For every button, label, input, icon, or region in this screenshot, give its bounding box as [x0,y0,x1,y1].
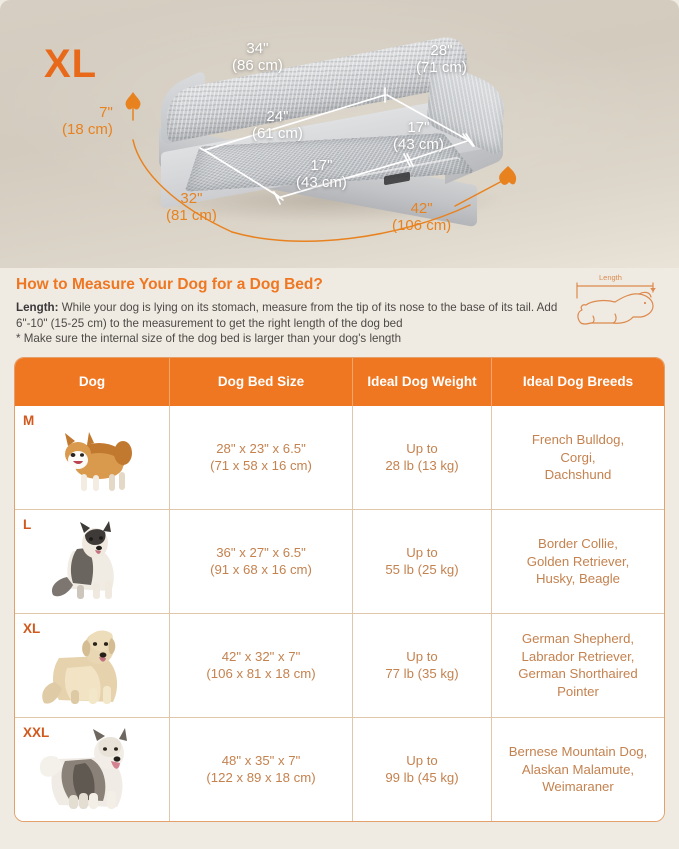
dog-cell-l: L [15,509,170,613]
border-collie-photo [37,521,147,601]
height-arrow-icon [126,92,141,110]
labrador-photo [33,624,151,706]
size-label-l: L [23,516,31,534]
weight-cell: Up to 99 lb (45 kg) [353,717,492,821]
dog-cell-xl: XL [15,613,170,717]
table-row: L [15,509,664,613]
bed-size-cell: 28" x 23" x 6.5" (71 x 58 x 16 cm) [170,406,353,510]
header-bed-size: Dog Bed Size [170,358,353,406]
header-weight: Ideal Dog Weight [353,358,492,406]
measure-description: Length: While your dog is lying on its s… [16,300,568,347]
length-arrow-tip-icon [650,288,656,292]
size-chart-table: Dog Dog Bed Size Ideal Dog Weight Ideal … [14,357,665,822]
breeds-cell: German Shepherd, Labrador Retriever, Ger… [492,613,665,717]
bed-size-cell: 48" x 35" x 7" (122 x 89 x 18 cm) [170,717,353,821]
hero-product-section: XL [0,0,679,268]
breeds-cell: French Bulldog, Corgi, Dachshund [492,406,665,510]
dim-7-inch-height: 7" (18 cm) [62,104,113,138]
table-header-row: Dog Dog Bed Size Ideal Dog Weight Ideal … [15,358,664,406]
dim-24-inch: 24" (61 cm) [252,108,303,142]
dog-cell-xxl: XXL [15,717,170,821]
weight-cell: Up to 28 lb (13 kg) [353,406,492,510]
dog-cell-m: M [15,406,170,510]
breeds-cell: Border Collie, Golden Retriever, Husky, … [492,509,665,613]
how-to-measure-section: How to Measure Your Dog for a Dog Bed? L… [0,268,679,347]
table-row: XXL [15,717,664,821]
measure-note: * Make sure the internal size of the dog… [16,332,401,345]
dim-28-inch: 28" (71 cm) [416,42,467,76]
measure-heading: How to Measure Your Dog for a Dog Bed? [16,276,663,294]
malamute-photo [31,727,153,811]
dim-42-inch-width: 42" (106 cm) [392,200,451,234]
size-label-m: M [23,412,34,430]
dim-17-inch-right: 17" (43 cm) [393,119,444,153]
bed-size-cell: 42" x 32" x 7" (106 x 81 x 18 cm) [170,613,353,717]
header-dog: Dog [15,358,170,406]
measure-paragraph: While your dog is lying on its stomach, … [16,301,557,330]
diagram-length-label: Length [599,273,622,282]
weight-cell: Up to 77 lb (35 kg) [353,613,492,717]
header-breeds: Ideal Dog Breeds [492,358,665,406]
size-badge-xl: XL [44,42,97,87]
dog-outline-icon [571,274,667,336]
dim-17-inch-front: 17" (43 cm) [296,157,347,191]
corgi-photo [37,420,147,494]
weight-cell: Up to 55 lb (25 kg) [353,509,492,613]
table-row: M [15,406,664,510]
length-label: Length: [16,301,59,314]
dim-34-inch: 34" (86 cm) [232,40,283,74]
product-size-infographic: XL [0,0,679,849]
breeds-cell: Bernese Mountain Dog, Alaskan Malamute, … [492,717,665,821]
bed-size-cell: 36" x 27" x 6.5" (91 x 68 x 16 cm) [170,509,353,613]
table-row: XL [15,613,664,717]
dim-32-inch-depth: 32" (81 cm) [166,190,217,224]
dog-length-diagram: Length [571,274,667,336]
